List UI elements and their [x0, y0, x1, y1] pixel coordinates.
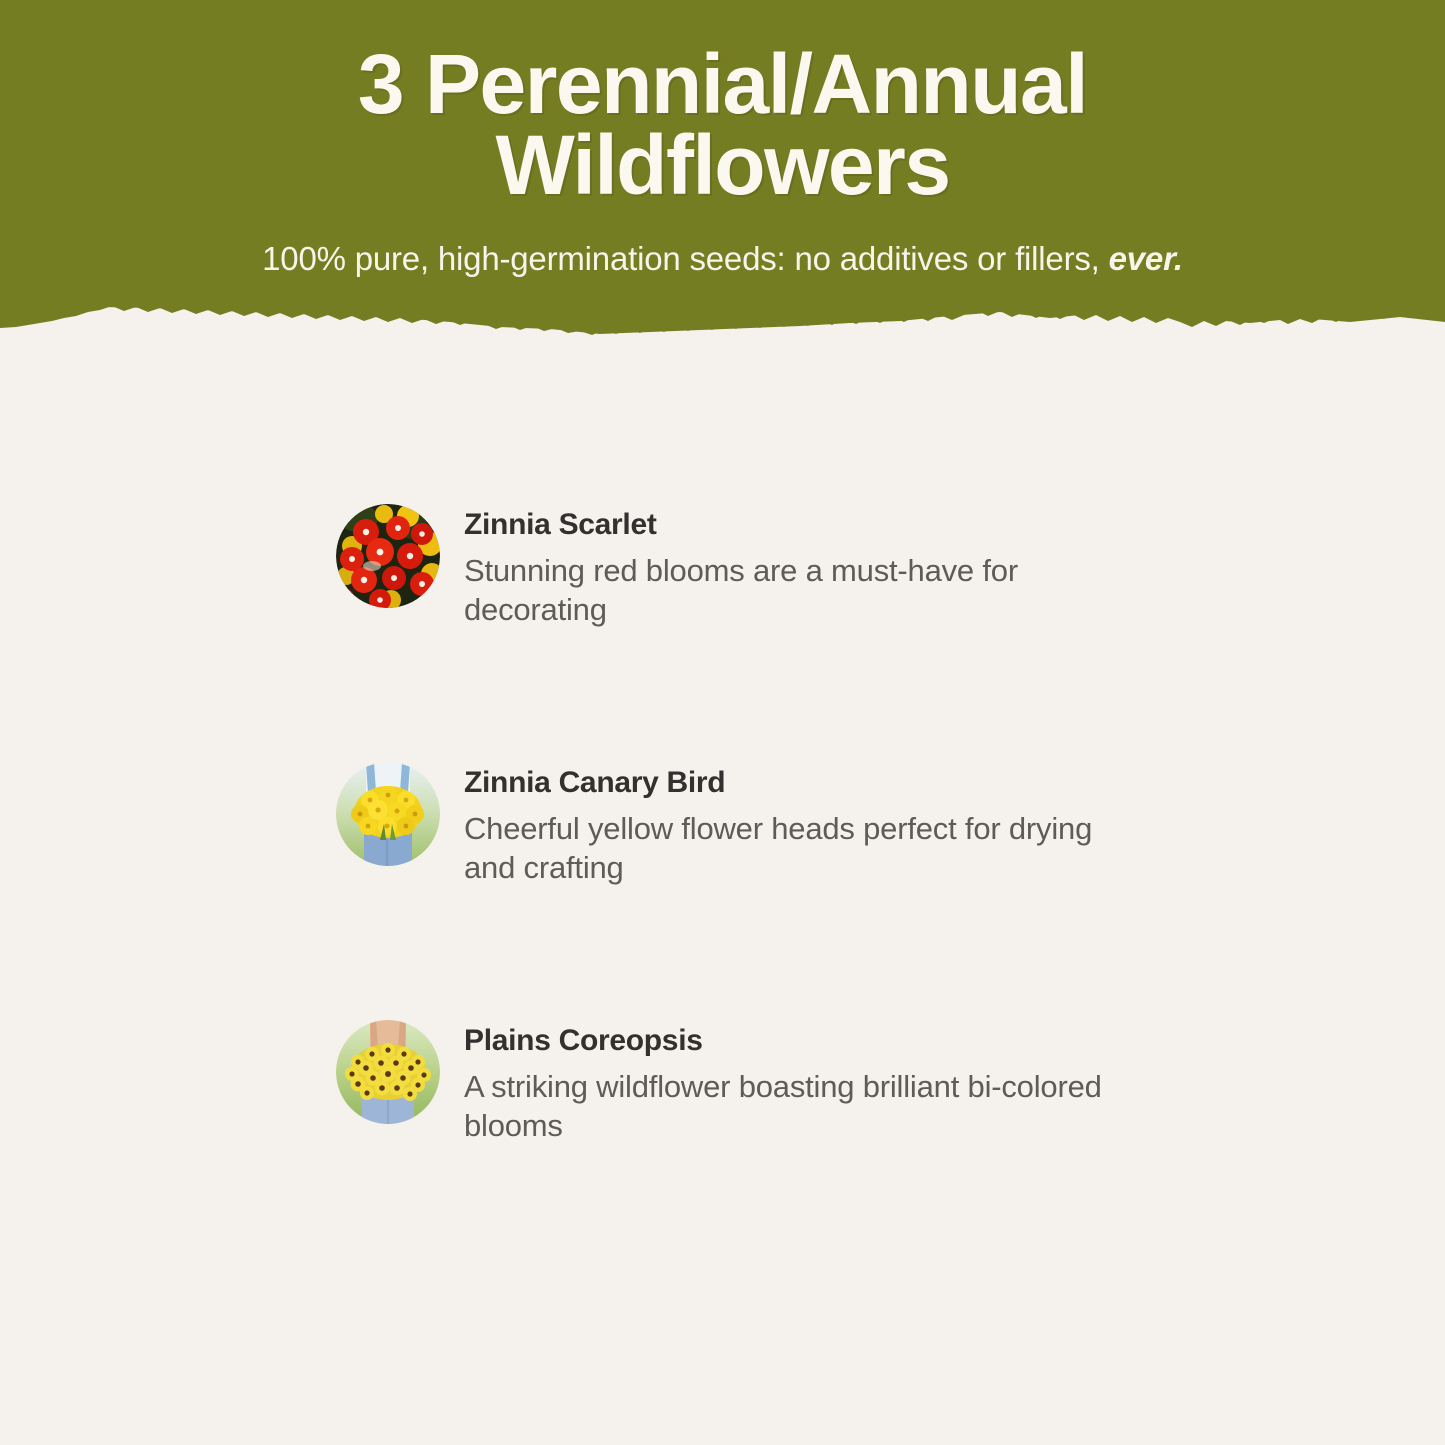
- item-title: Zinnia Canary Bird: [464, 746, 1144, 801]
- item-text-block: Plains Coreopsis A striking wildflower b…: [440, 1004, 1144, 1146]
- item-description: Cheerful yellow flower heads perfect for…: [464, 801, 1144, 888]
- item-title: Plains Coreopsis: [464, 1004, 1144, 1059]
- header-banner: 3 Perennial/Annual Wildflowers 100% pure…: [0, 0, 1445, 348]
- list-item: Zinnia Canary Bird Cheerful yellow flowe…: [0, 746, 1445, 1004]
- wildflower-list: Zinnia Scarlet Stunning red blooms are a…: [0, 488, 1445, 1262]
- list-item: Plains Coreopsis A striking wildflower b…: [0, 1004, 1445, 1262]
- plains-coreopsis-thumbnail-image: [336, 1020, 440, 1124]
- page-title-line-2: Wildflowers: [495, 118, 949, 212]
- zinnia-canary-bird-thumbnail-image: [336, 762, 440, 866]
- item-description: A striking wildflower boasting brilliant…: [464, 1059, 1144, 1146]
- zinnia-scarlet-illustration: [336, 504, 440, 608]
- item-description: Stunning red blooms are a must-have for …: [464, 543, 1144, 630]
- item-text-block: Zinnia Canary Bird Cheerful yellow flowe…: [440, 746, 1144, 888]
- zinnia-scarlet-thumbnail-image: [336, 504, 440, 608]
- page-title-line-1: 3 Perennial/Annual: [358, 37, 1087, 131]
- page-subtitle: 100% pure, high-germination seeds: no ad…: [262, 207, 1183, 279]
- item-title: Zinnia Scarlet: [464, 488, 1144, 543]
- item-text-block: Zinnia Scarlet Stunning red blooms are a…: [440, 488, 1144, 630]
- page-title: 3 Perennial/Annual Wildflowers: [358, 44, 1087, 207]
- plains-coreopsis-illustration: [336, 1020, 440, 1124]
- zinnia-canary-bird-illustration: [336, 762, 440, 866]
- header-text-block: 3 Perennial/Annual Wildflowers 100% pure…: [0, 0, 1445, 310]
- page-subtitle-emphasis: ever.: [1109, 240, 1183, 277]
- list-item: Zinnia Scarlet Stunning red blooms are a…: [0, 488, 1445, 746]
- page-subtitle-text: 100% pure, high-germination seeds: no ad…: [262, 240, 1108, 277]
